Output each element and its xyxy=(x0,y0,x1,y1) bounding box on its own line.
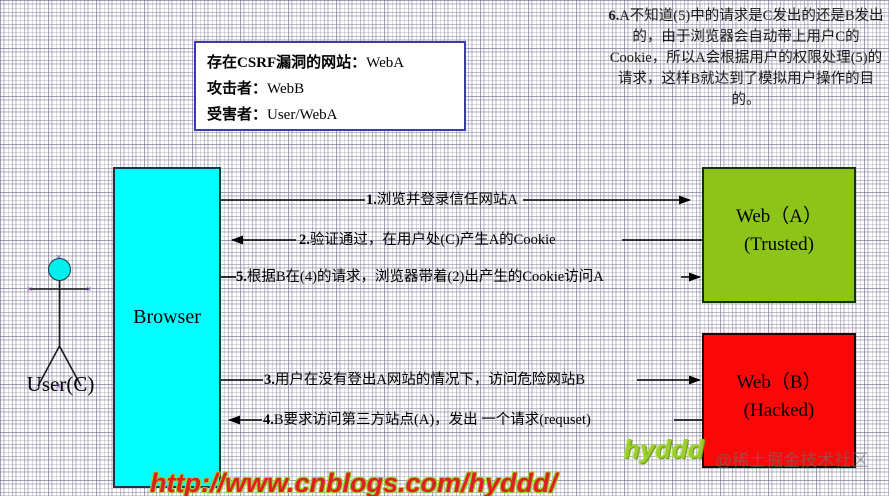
handle-marker-bottom[interactable]: × xyxy=(56,382,61,391)
handle-marker-top[interactable]: × xyxy=(56,253,61,262)
flow-label-2-number: 2. xyxy=(299,232,310,248)
actor-stick-figure xyxy=(30,281,89,386)
step6-note-number: 6. xyxy=(608,8,619,24)
flow-label-1-text: 浏览并登录信任网站A xyxy=(377,192,518,208)
handle-marker-right[interactable]: × xyxy=(86,285,91,294)
info-label-vulnerable-site: 存在CSRF漏洞的网站： xyxy=(207,55,366,71)
info-value-victim: User/WebA xyxy=(267,107,337,123)
info-line-victim: 受害者：User/WebA xyxy=(207,102,464,128)
flow-label-2-text: 验证通过，在用户处(C)产生A的Cookie xyxy=(310,232,556,248)
info-value-attacker: WebB xyxy=(267,81,304,97)
info-value-vulnerable-site: WebA xyxy=(366,55,404,71)
browser-node-label: Browser xyxy=(113,306,221,329)
step6-note: 6.A不知道(5)中的请求是C发出的还是B发出的，由于浏览器会自动带上用户C的C… xyxy=(607,6,885,111)
info-label-attacker: 攻击者： xyxy=(207,81,267,97)
flow-label-2: 2.验证通过，在用户处(C)产生A的Cookie xyxy=(299,232,556,248)
flow-label-1: 1.浏览并登录信任网站A xyxy=(366,192,518,208)
flow-label-5-text: 根据B在(4)的请求，浏览器带着(2)出产生的Cookie访问A xyxy=(247,269,604,285)
flow-label-1-number: 1. xyxy=(366,192,377,208)
flow-label-3-number: 3. xyxy=(264,372,275,388)
flow-label-3-text: 用户在没有登出A网站的情况下，访问危险网站B xyxy=(275,372,585,388)
flow-label-3: 3.用户在没有登出A网站的情况下，访问危险网站B xyxy=(264,372,585,388)
flow-label-5: 5.根据B在(4)的请求，浏览器带着(2)出产生的Cookie访问A xyxy=(236,269,604,285)
csrf-info-box: 存在CSRF漏洞的网站：WebA 攻击者：WebB 受害者：User/WebA xyxy=(194,41,466,131)
diagram-canvas: 存在CSRF漏洞的网站：WebA 攻击者：WebB 受害者：User/WebA … xyxy=(0,0,889,496)
info-line-vulnerable-site: 存在CSRF漏洞的网站：WebA xyxy=(207,50,464,76)
info-line-attacker: 攻击者：WebB xyxy=(207,76,464,102)
flow-label-4: 4.B要求访问第三方站点(A)，发出 一个请求(requset) xyxy=(263,412,591,428)
watermark-url: http://www.cnblogs.com/hyddd/ xyxy=(150,468,557,496)
handle-marker-left[interactable]: × xyxy=(27,285,32,294)
watermark-handle: hyddd xyxy=(624,434,705,465)
flow-label-4-text: B要求访问第三方站点(A)，发出 一个请求(requset) xyxy=(274,412,591,428)
watermark-platform: @稀土掘金技术社区 xyxy=(715,446,868,471)
info-label-victim: 受害者： xyxy=(207,107,267,123)
flow-label-4-number: 4. xyxy=(263,412,274,428)
flow-label-5-number: 5. xyxy=(236,269,247,285)
web-a-trusted-node[interactable] xyxy=(702,167,856,303)
step6-note-text: A不知道(5)中的请求是C发出的还是B发出的，由于浏览器会自动带上用户C的Coo… xyxy=(610,8,884,108)
